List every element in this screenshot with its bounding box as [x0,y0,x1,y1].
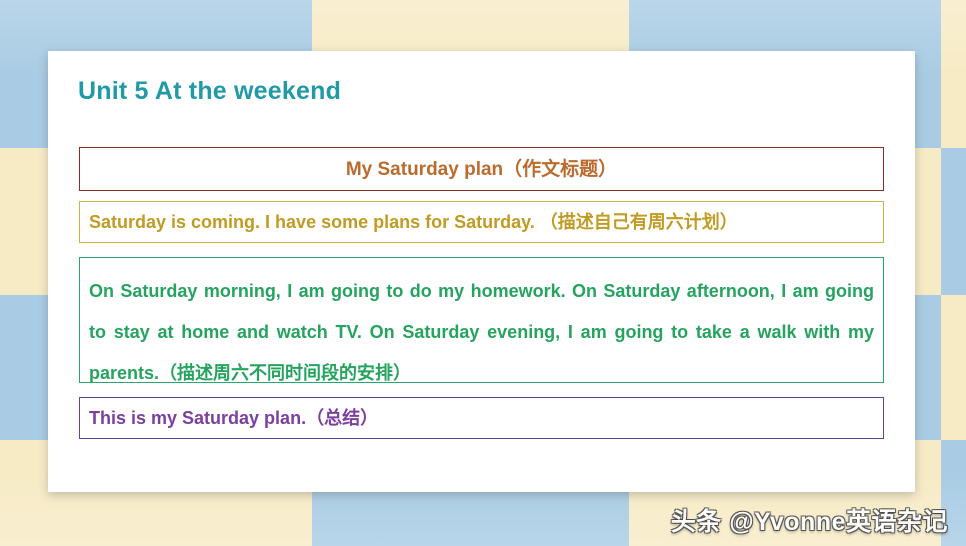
sentence-text-body: On Saturday morning, I am going to do my… [89,271,874,394]
sentence-box-closing: This is my Saturday plan.（总结） [79,397,884,439]
watermark: 头条 @Yvonne英语杂记 [671,502,948,538]
sentence-box-body: On Saturday morning, I am going to do my… [79,257,884,383]
slide-canvas: Unit 5 At the weekend My Saturday plan（作… [0,0,966,546]
sentence-box-title: My Saturday plan（作文标题） [79,147,884,191]
sentence-box-opening: Saturday is coming. I have some plans fo… [79,201,884,243]
sentence-text-closing: This is my Saturday plan.（总结） [89,409,883,427]
bg-tile [941,0,966,148]
bg-tile [941,295,966,440]
content-card: Unit 5 At the weekend My Saturday plan（作… [48,51,915,492]
page-title: Unit 5 At the weekend [78,77,341,106]
sentence-text-title: My Saturday plan（作文标题） [80,160,883,179]
sentence-text-opening: Saturday is coming. I have some plans fo… [89,213,883,231]
